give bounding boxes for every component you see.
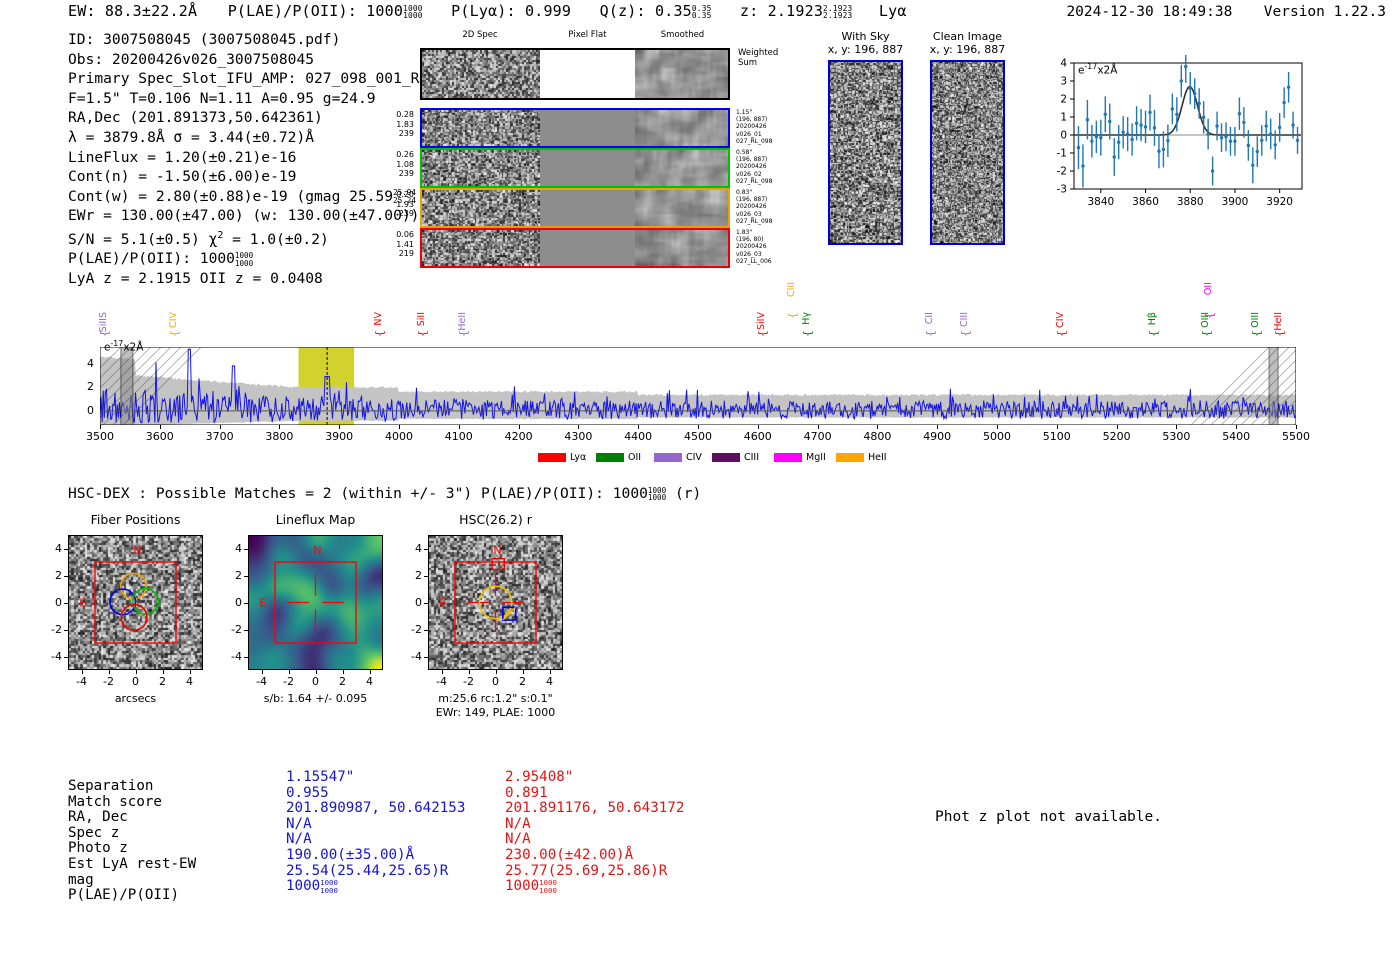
spectrum-xtick-mark — [1176, 425, 1177, 429]
spectrum-xtick: 5000 — [975, 430, 1019, 443]
col-header-pixelflat: Pixel Flat — [540, 30, 635, 40]
header-qz-range: 0.350.35 — [692, 5, 712, 21]
info-obs: Obs: 20200426v026_3007508045 — [68, 50, 442, 70]
line-label-ciii-8: CIII — [959, 312, 970, 327]
line-brace-16: { — [1203, 312, 1216, 319]
match-row-label-3: Spec z — [68, 826, 119, 842]
spectrum-xtick-mark — [818, 425, 819, 429]
spec-row-stats-4: 0.061.41219 — [382, 230, 414, 259]
spectrum-xtick: 4500 — [676, 430, 720, 443]
svg-text:3860: 3860 — [1132, 196, 1159, 208]
svg-text:-3: -3 — [1057, 184, 1067, 196]
spec-row-4 — [420, 228, 730, 268]
line-brace-8: { — [959, 330, 972, 337]
panel-ytick-mark — [64, 630, 68, 631]
panel-xtick: -2 — [95, 675, 123, 688]
spectrum-xtick: 3500 — [78, 430, 122, 443]
panel-xtick: 0 — [302, 675, 330, 688]
panel-ytick: -2 — [398, 623, 422, 636]
match-row-value2-3: N/A — [505, 817, 531, 833]
line-brace-7: { — [924, 330, 937, 337]
panel-ytick: 0 — [218, 596, 242, 609]
spectrum-xtick: 4300 — [556, 430, 600, 443]
spectrum-xtick-mark — [937, 425, 938, 429]
svg-text:-1: -1 — [1057, 148, 1067, 160]
svg-text:2: 2 — [1060, 94, 1067, 106]
match-row-label-4: Photo z — [68, 841, 128, 857]
spectrum-xtick-mark — [1057, 425, 1058, 429]
line-label-siii-3: SiII — [416, 312, 427, 326]
match-row-value1-2: 201.890987, 50.642153 — [286, 801, 465, 817]
weighted-sum-label: WeightedSum — [738, 48, 778, 68]
efit-units-label: e-17x2Å — [1078, 62, 1117, 77]
cutout-label-2: Clean Imagex, y: 196, 887 — [905, 30, 1030, 56]
photz-note: Phot z plot not available. — [935, 809, 1162, 825]
header-plae-range: 10001000 — [403, 5, 423, 21]
spectrum-xtick-mark — [997, 425, 998, 429]
panel-xtick-mark — [370, 670, 371, 674]
panel-xtick: -4 — [428, 675, 456, 688]
spectrum-xtick: 5400 — [1214, 430, 1258, 443]
header-ew: EW: 88.3±22.2Å — [68, 2, 197, 20]
legend-label-heii: HeII — [868, 452, 887, 463]
panel-ytick-mark — [244, 549, 248, 550]
version-label: Version 1.22.3 — [1264, 4, 1386, 20]
spectrum-xtick: 4400 — [616, 430, 660, 443]
spectrum-units-label: e-17x2Å — [104, 339, 143, 354]
line-label-heii-4: HeII — [457, 312, 468, 331]
panel-ytick-mark — [244, 630, 248, 631]
line-label-civ-9: CIV — [1055, 312, 1066, 328]
match-row-value2-4: N/A — [505, 832, 531, 848]
line-brace-12: { — [1250, 330, 1263, 337]
spectrum-xtick: 5300 — [1154, 430, 1198, 443]
spec-row-stats-3: 0.201.93239 — [382, 190, 414, 219]
svg-text:3: 3 — [1060, 76, 1067, 88]
panel-title-0: Fiber Positions — [43, 512, 228, 527]
match-row-value2-7: 100010001000 — [505, 879, 557, 895]
panel-xtick-mark — [262, 670, 263, 674]
panel-ytick: 0 — [398, 596, 422, 609]
spectrum-xtick-mark — [578, 425, 579, 429]
match-row-label-6: mag — [68, 873, 94, 889]
spec-row-3 — [420, 188, 730, 228]
legend-label-lyα: Lyα — [570, 452, 586, 463]
panel-ytick: 2 — [398, 569, 422, 582]
panel-xlabel-2: m:25.6 rc:1.2" s:0.1" — [388, 692, 603, 705]
spectrum-xtick: 4600 — [736, 430, 780, 443]
spec-row-meta-4: 1.83"(196, 80)20200426v026_03027_LL_006 — [736, 229, 772, 265]
line-brace-2: { — [373, 330, 386, 337]
line-brace-15: { — [786, 312, 799, 319]
match-row-value2-0: 2.95408" — [505, 770, 573, 786]
panel-xtick-mark — [496, 670, 497, 674]
panel-ytick: 4 — [218, 542, 242, 555]
match-row-value2-2: 201.891176, 50.643172 — [505, 801, 684, 817]
match-row-label-0: Separation — [68, 779, 153, 795]
emission-line-fit-plot: 38403860388039003920-3-2-101234e-17x2Å — [1040, 55, 1308, 215]
panel-xtick-mark — [343, 670, 344, 674]
header-lya-tag: Lyα — [879, 2, 907, 20]
line-label-hβ-10: Hβ — [1147, 312, 1158, 325]
panel-xtick-mark — [316, 670, 317, 674]
panel-ytick: 4 — [398, 542, 422, 555]
panel-image-0[interactable] — [68, 535, 203, 670]
match-row-value1-4: N/A — [286, 832, 312, 848]
spectrum-xtick: 4800 — [855, 430, 899, 443]
panel-ytick: -4 — [218, 650, 242, 663]
panel-ytick: 2 — [38, 569, 62, 582]
panel-xtick: 0 — [122, 675, 150, 688]
panel-image-2[interactable] — [428, 535, 563, 670]
match-row-label-1: Match score — [68, 795, 162, 811]
panel-ytick-mark — [424, 630, 428, 631]
panel-xtick-mark — [109, 670, 110, 674]
svg-text:3840: 3840 — [1087, 196, 1114, 208]
panel-ytick-mark — [64, 549, 68, 550]
line-label-cii-7: CII — [924, 312, 935, 324]
panel-xtick: 2 — [329, 675, 357, 688]
panel-ytick: -4 — [38, 650, 62, 663]
panel-xtick: -4 — [68, 675, 96, 688]
spectrum-xtick-mark — [1117, 425, 1118, 429]
header-qz: Q(z): 0.35 — [600, 2, 692, 20]
match-row-value2-5: 230.00(±42.00)Å — [505, 848, 633, 864]
spectrum-ytick: 4 — [82, 357, 94, 370]
panel-xtick: 0 — [482, 675, 510, 688]
cutout-image-1 — [828, 60, 903, 245]
timestamp-version: 2024-12-30 18:49:38 Version 1.22.3 — [1066, 4, 1386, 20]
legend-swatch-civ — [654, 453, 682, 462]
header-plae: P(LAE)/P(OII): 1000 — [228, 2, 403, 20]
panel-ytick: -2 — [38, 623, 62, 636]
panel-xtick-mark — [190, 670, 191, 674]
panel-ytick-mark — [244, 576, 248, 577]
legend-swatch-oii — [596, 453, 624, 462]
line-brace-13: { — [1273, 330, 1286, 337]
spectrum-xtick: 5100 — [1035, 430, 1079, 443]
spectrum-xtick-mark — [877, 425, 878, 429]
panel-xtick-mark — [163, 670, 164, 674]
panel-xtick-mark — [550, 670, 551, 674]
info-primary-spec: Primary Spec_Slot_IFU_AMP: 027_098_001_R… — [68, 69, 442, 89]
line-brace-5: { — [756, 330, 769, 337]
panel-caption-2: EWr: 149, PLAE: 1000 — [388, 706, 603, 719]
line-label-oii-16: OII — [1203, 282, 1214, 295]
panel-ytick: 0 — [38, 596, 62, 609]
spectrum-xtick-mark — [279, 425, 280, 429]
panel-xtick: 4 — [536, 675, 564, 688]
svg-text:-2: -2 — [1057, 166, 1067, 178]
panel-image-1[interactable] — [248, 535, 383, 670]
panel-ytick-mark — [424, 603, 428, 604]
legend-swatch-mgii — [774, 453, 802, 462]
panel-ytick: 2 — [218, 569, 242, 582]
svg-text:3920: 3920 — [1266, 196, 1293, 208]
line-label-hγ-6: Hγ — [801, 312, 812, 325]
panel-ytick-mark — [64, 657, 68, 658]
line-label-siiv-5: SiIV — [756, 312, 767, 330]
spectrum-xtick-mark — [399, 425, 400, 429]
line-brace-10: { — [1147, 330, 1160, 337]
svg-text:0: 0 — [1060, 130, 1067, 142]
spectrum-xtick: 4200 — [497, 430, 541, 443]
legend-label-ciii: CIII — [744, 452, 759, 463]
line-label-ciii-15: CIII — [786, 282, 797, 297]
panel-xtick-mark — [442, 670, 443, 674]
spectrum-ytick: 0 — [82, 404, 94, 417]
cutout-image-2 — [930, 60, 1005, 245]
spectrum-xtick-mark — [220, 425, 221, 429]
svg-text:3880: 3880 — [1177, 196, 1204, 208]
line-brace-1: { — [168, 330, 181, 337]
line-label-heii-13: HeII — [1273, 312, 1284, 331]
spectrum-xtick-mark — [160, 425, 161, 429]
spectrum-xtick: 5500 — [1274, 430, 1318, 443]
match-row-value1-3: N/A — [286, 817, 312, 833]
spectrum-xtick-mark — [100, 425, 101, 429]
spec-row-meta-2: 0.58"(196, 887)20200426v026_02027_RL_098 — [736, 149, 772, 185]
panel-xtick-mark — [523, 670, 524, 674]
spectrum-xtick-mark — [459, 425, 460, 429]
timestamp: 2024-12-30 18:49:38 — [1066, 4, 1232, 20]
match-row-value1-7: 100010001000 — [286, 879, 338, 895]
panel-xtick: 4 — [176, 675, 204, 688]
line-brace-6: { — [801, 330, 814, 337]
legend-swatch-ciii — [712, 453, 740, 462]
header-z-range: 2.19232.1923 — [823, 5, 852, 21]
legend-label-oii: OII — [628, 452, 641, 463]
spec-row-2 — [420, 148, 730, 188]
spectrum-xtick-mark — [638, 425, 639, 429]
svg-text:3900: 3900 — [1222, 196, 1249, 208]
line-brace-0: { — [98, 330, 111, 337]
spectrum-xtick: 3800 — [257, 430, 301, 443]
panel-ytick: -4 — [398, 650, 422, 663]
line-brace-9: { — [1055, 330, 1068, 337]
panel-ytick-mark — [244, 603, 248, 604]
spectrum-xtick-mark — [519, 425, 520, 429]
legend-swatch-lyα — [538, 453, 566, 462]
panel-xtick-mark — [289, 670, 290, 674]
line-brace-3: { — [416, 330, 429, 337]
spec-row-1 — [420, 108, 730, 148]
panel-xtick: -2 — [455, 675, 483, 688]
panel-xtick: 4 — [356, 675, 384, 688]
match-row-label-2: RA, Dec — [68, 810, 128, 826]
match-row-value2-6: 25.77(25.69,25.86)R — [505, 864, 667, 880]
panel-ytick-mark — [244, 657, 248, 658]
match-row-label-5: Est LyA rest-EW — [68, 857, 196, 873]
panel-ytick-mark — [424, 657, 428, 658]
spectrum-ytick: 2 — [82, 380, 94, 393]
match-row-value2-1: 0.891 — [505, 786, 548, 802]
info-id: ID: 3007508045 (3007508045.pdf) — [68, 30, 442, 50]
panel-ytick-mark — [64, 576, 68, 577]
match-row-label-7: P(LAE)/P(OII) — [68, 888, 179, 904]
spec-row-meta-3: 0.83"(196, 887)20200426v026_03027_RL_098 — [736, 189, 772, 225]
spectrum-xtick: 3600 — [138, 430, 182, 443]
panel-title-2: HSC(26.2) r — [403, 512, 588, 527]
spectrum-xtick-mark — [758, 425, 759, 429]
line-brace-4: { — [457, 330, 470, 337]
match-row-value1-0: 1.15547" — [286, 770, 354, 786]
spectrum-xtick: 4000 — [377, 430, 421, 443]
panel-ytick-mark — [424, 576, 428, 577]
panel-xtick-mark — [469, 670, 470, 674]
spectrum-xtick: 4100 — [437, 430, 481, 443]
spectrum-xtick: 3900 — [317, 430, 361, 443]
full-spectrum-plot — [100, 347, 1296, 425]
info-seeing: F=1.5" T=0.106 N=1.11 A=0.95 g=24.9 — [68, 89, 442, 109]
spec-row-stats-1: 0.281.83239 — [382, 110, 414, 139]
header-z: z: 2.1923 — [740, 2, 823, 20]
spectrum-xtick: 4900 — [915, 430, 959, 443]
svg-text:1: 1 — [1060, 112, 1067, 124]
spec-row-stats-2: 0.261.08239 — [382, 150, 414, 179]
panel-xtick: 2 — [149, 675, 177, 688]
panel-xtick: -4 — [248, 675, 276, 688]
col-header-2dspec: 2D Spec — [420, 30, 540, 40]
match-row-value1-6: 25.54(25.44,25.65)R — [286, 864, 448, 880]
spectrum-xtick-mark — [339, 425, 340, 429]
line-label-oiii-12: OIII — [1250, 312, 1261, 328]
line-brace-11: { — [1200, 330, 1213, 337]
col-header-smoothed: Smoothed — [635, 30, 730, 40]
spectrum-xtick: 5200 — [1095, 430, 1139, 443]
header-plya: P(Lyα): 0.999 — [451, 2, 571, 20]
panel-ytick: 4 — [38, 542, 62, 555]
panel-xtick: -2 — [275, 675, 303, 688]
info-redshifts: LyA z = 2.1915 OII z = 0.0408 — [68, 269, 442, 289]
panel-xtick: 2 — [509, 675, 537, 688]
spectrum-xtick-mark — [1236, 425, 1237, 429]
legend-label-civ: CIV — [686, 452, 702, 463]
panel-xtick-mark — [136, 670, 137, 674]
spec-row-meta-1: 1.15"(196, 887)20200426v026_01027_RL_098 — [736, 109, 772, 145]
line-label-civ-1: CIV — [168, 312, 179, 328]
line-label-nv-2: NV — [373, 312, 384, 326]
weighted-sum-strip — [420, 48, 730, 100]
panel-xtick-mark — [82, 670, 83, 674]
panel-ytick: -2 — [218, 623, 242, 636]
header-summary-line: EW: 88.3±22.2Å P(LAE)/P(OII): 1000100010… — [68, 2, 907, 20]
match-row-value1-5: 190.00(±35.00)Å — [286, 848, 414, 864]
match-row-value1-1: 0.955 — [286, 786, 329, 802]
legend-swatch-heii — [836, 453, 864, 462]
spectrum-xtick-mark — [1296, 425, 1297, 429]
panel-ytick-mark — [424, 549, 428, 550]
spectrum-xtick-mark — [698, 425, 699, 429]
spectrum-xtick: 4700 — [796, 430, 840, 443]
hscdex-heading: HSC-DEX : Possible Matches = 2 (within +… — [68, 485, 701, 502]
panel-ytick-mark — [64, 603, 68, 604]
panel-title-1: Lineflux Map — [223, 512, 408, 527]
two-d-spectrum-montage: 2D Spec Pixel Flat Smoothed WeightedSum … — [420, 30, 770, 260]
svg-text:4: 4 — [1060, 58, 1067, 70]
spectrum-xtick: 3700 — [198, 430, 242, 443]
legend-label-mgii: MgII — [806, 452, 826, 463]
